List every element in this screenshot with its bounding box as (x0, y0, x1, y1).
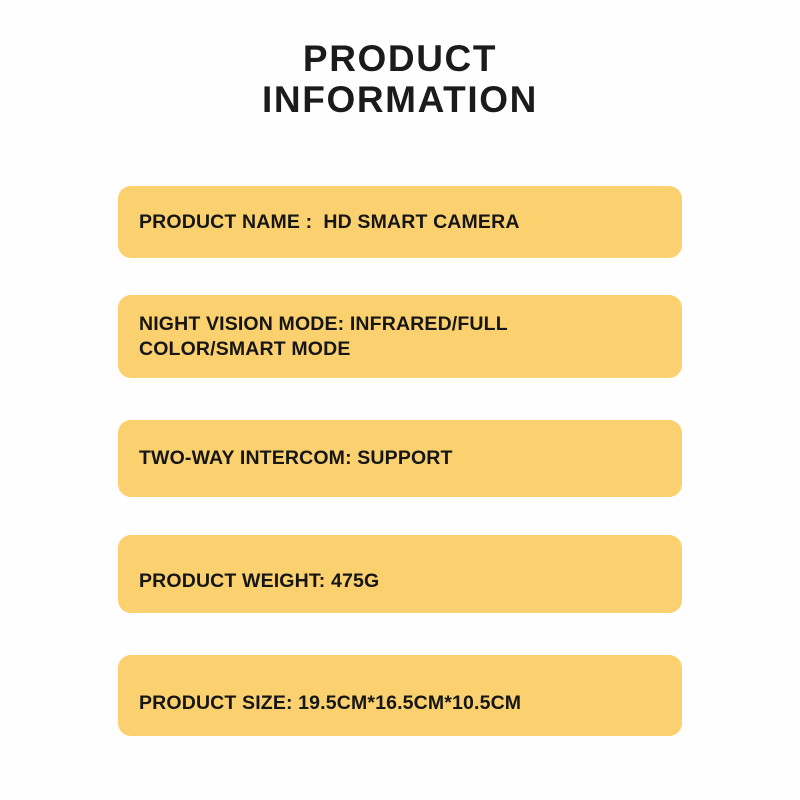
spec-card-product-weight: PRODUCT WEIGHT: 475G (118, 535, 682, 613)
spec-card-list: PRODUCT NAME : HD SMART CAMERA NIGHT VIS… (118, 186, 682, 736)
spec-card-text: TWO-WAY INTERCOM: SUPPORT (139, 446, 666, 471)
page-title: PRODUCT INFORMATION (0, 38, 800, 120)
spec-card-two-way-intercom: TWO-WAY INTERCOM: SUPPORT (118, 420, 682, 497)
spec-card-text: PRODUCT SIZE: 19.5CM*16.5CM*10.5CM (139, 691, 666, 716)
spec-card-night-vision-mode: NIGHT VISION MODE: INFRARED/FULL COLOR/S… (118, 295, 682, 378)
spec-card-product-size: PRODUCT SIZE: 19.5CM*16.5CM*10.5CM (118, 655, 682, 736)
product-information-page: PRODUCT INFORMATION PRODUCT NAME : HD SM… (0, 0, 800, 800)
page-title-line-2: INFORMATION (0, 79, 800, 120)
page-title-line-1: PRODUCT (0, 38, 800, 79)
spec-card-text: NIGHT VISION MODE: INFRARED/FULL COLOR/S… (139, 312, 666, 362)
spec-card-product-name: PRODUCT NAME : HD SMART CAMERA (118, 186, 682, 258)
spec-card-text: PRODUCT NAME : HD SMART CAMERA (139, 210, 666, 235)
spec-card-text: PRODUCT WEIGHT: 475G (139, 569, 666, 594)
